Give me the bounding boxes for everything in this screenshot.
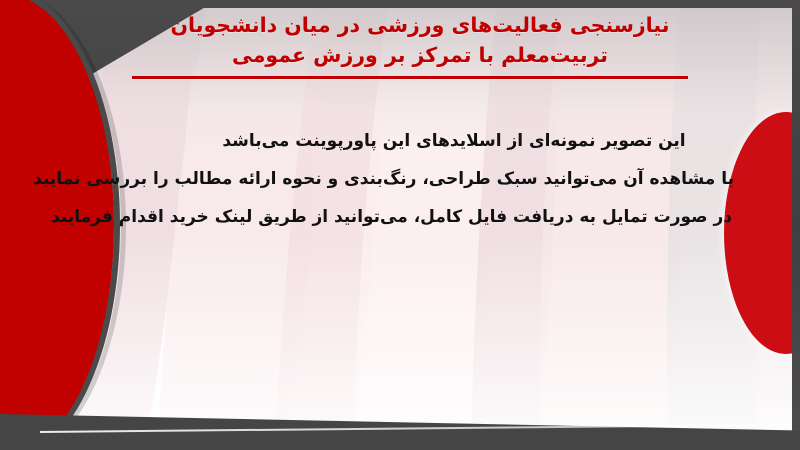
body-line-1: این تصویر نمونه‌ای از اسلایدهای این پاور… <box>127 122 781 160</box>
slide-body-text: این تصویر نمونه‌ای از اسلایدهای این پاور… <box>80 122 734 236</box>
slide-title: نیازسنجی فعالیت‌های ورزشی در میان دانشجو… <box>70 10 770 70</box>
body-line-3: در صورت تمایل به دریافت فایل کامل، می‌تو… <box>78 198 732 236</box>
title-underline <box>132 76 688 79</box>
presentation-slide: نیازسنجی فعالیت‌های ورزشی در میان دانشجو… <box>0 0 800 450</box>
title-line-2: تربیت‌معلم با تمرکز بر ورزش عمومی <box>70 40 770 70</box>
body-line-2: با مشاهده آن می‌توانید سبک طراحی، رنگ‌بن… <box>80 160 734 198</box>
title-line-1: نیازسنجی فعالیت‌های ورزشی در میان دانشجو… <box>70 10 770 40</box>
